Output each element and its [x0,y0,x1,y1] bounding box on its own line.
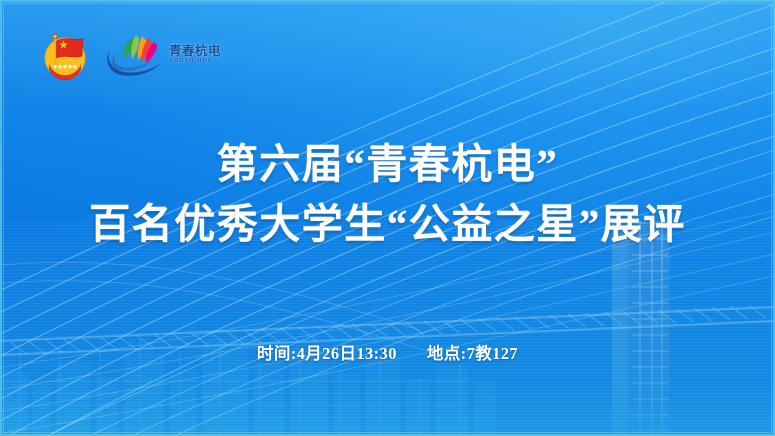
event-place: 地点:7教127 [427,340,518,364]
poster-title-line-2: 百名优秀大学生“公益之星”展评 [0,198,775,250]
event-time: 时间:4月26日13:30 [257,340,397,364]
youth-hdu-wordmark: 青春杭电 YOUTH HDU [169,45,221,65]
communist-youth-league-emblem-icon: ★★★★★ [40,30,90,80]
youth-hdu-wordmark-cn: 青春杭电 [169,45,221,58]
poster-title-line-1: 第六届“青春杭电” [0,138,775,190]
youth-hdu-logo: 青春杭电 YOUTH HDU [106,32,221,78]
poster-title-block: 第六届“青春杭电” 百名优秀大学生“公益之星”展评 [0,138,775,251]
event-poster: ★★★★★ 青春杭电 YOUTH HDU 第六届“青春杭电” 百名优秀大 [0,0,775,436]
logo-bar: ★★★★★ 青春杭电 YOUTH HDU [40,30,221,80]
svg-text:★★★★★: ★★★★★ [53,64,79,71]
youth-hdu-wordmark-en: YOUTH HDU [169,59,221,65]
youth-hdu-petal-icon [106,32,164,78]
poster-meta-block: 时间:4月26日13:30 地点:7教127 [0,340,775,364]
poster-meta-line: 时间:4月26日13:30 地点:7教127 [257,340,518,364]
